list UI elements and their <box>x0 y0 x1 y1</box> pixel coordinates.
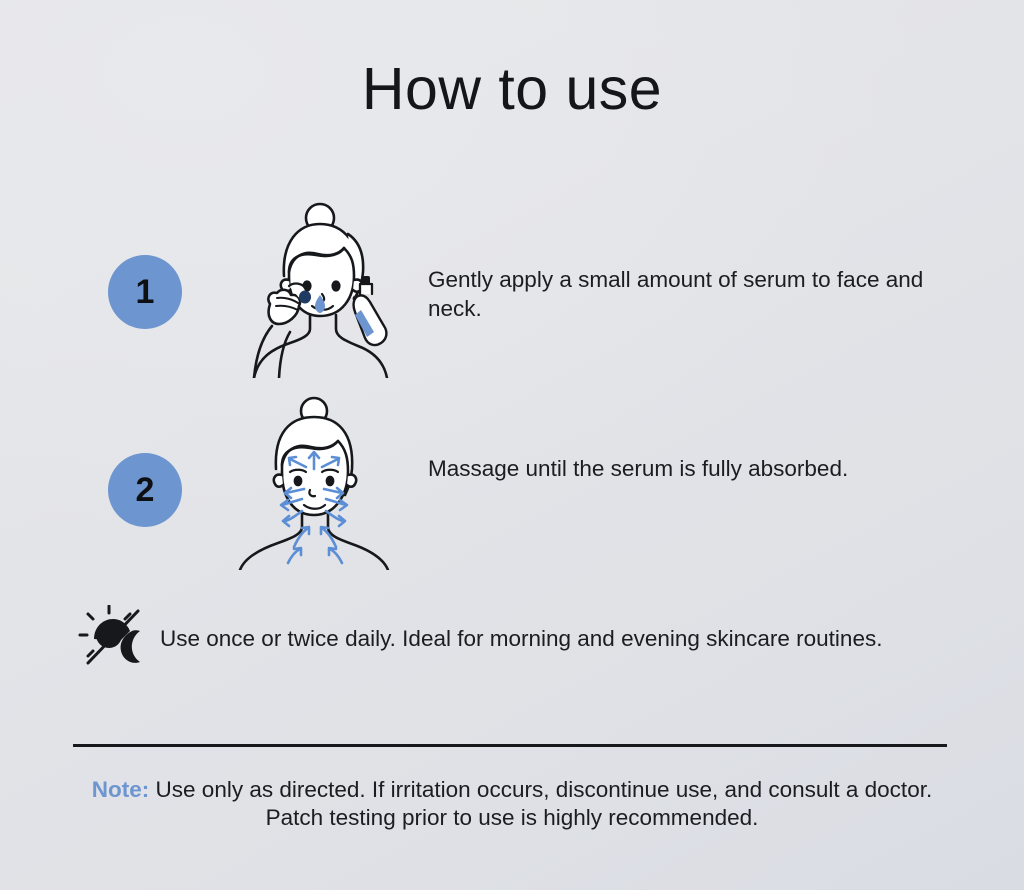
step-2-illustration <box>232 395 397 575</box>
how-to-use-infographic: How to use 1 <box>0 0 1024 890</box>
step-1-text: Gently apply a small amount of serum to … <box>428 266 948 324</box>
note-line-1: Note: Use only as directed. If irritatio… <box>0 776 1024 804</box>
note-line-2: Patch testing prior to use is highly rec… <box>0 804 1024 832</box>
step-2-row: 2 <box>0 395 1024 575</box>
page-title: How to use <box>0 57 1024 122</box>
step-1-badge: 1 <box>108 255 182 329</box>
note-label: Note: <box>92 777 150 802</box>
note-text-1: Use only as directed. If irritation occu… <box>156 777 933 802</box>
frequency-text: Use once or twice daily. Ideal for morni… <box>160 624 882 653</box>
step-1-illustration <box>232 198 397 383</box>
step-2-badge: 2 <box>108 453 182 527</box>
step-2-text: Massage until the serum is fully absorbe… <box>428 455 948 484</box>
section-divider <box>73 744 947 747</box>
step-1-row: 1 <box>0 198 1024 378</box>
step-2-number: 2 <box>136 473 155 507</box>
frequency-row: Use once or twice daily. Ideal for morni… <box>76 605 966 672</box>
note-block: Note: Use only as directed. If irritatio… <box>0 776 1024 832</box>
step-1-number: 1 <box>136 275 155 309</box>
sun-moon-icon <box>76 605 152 672</box>
